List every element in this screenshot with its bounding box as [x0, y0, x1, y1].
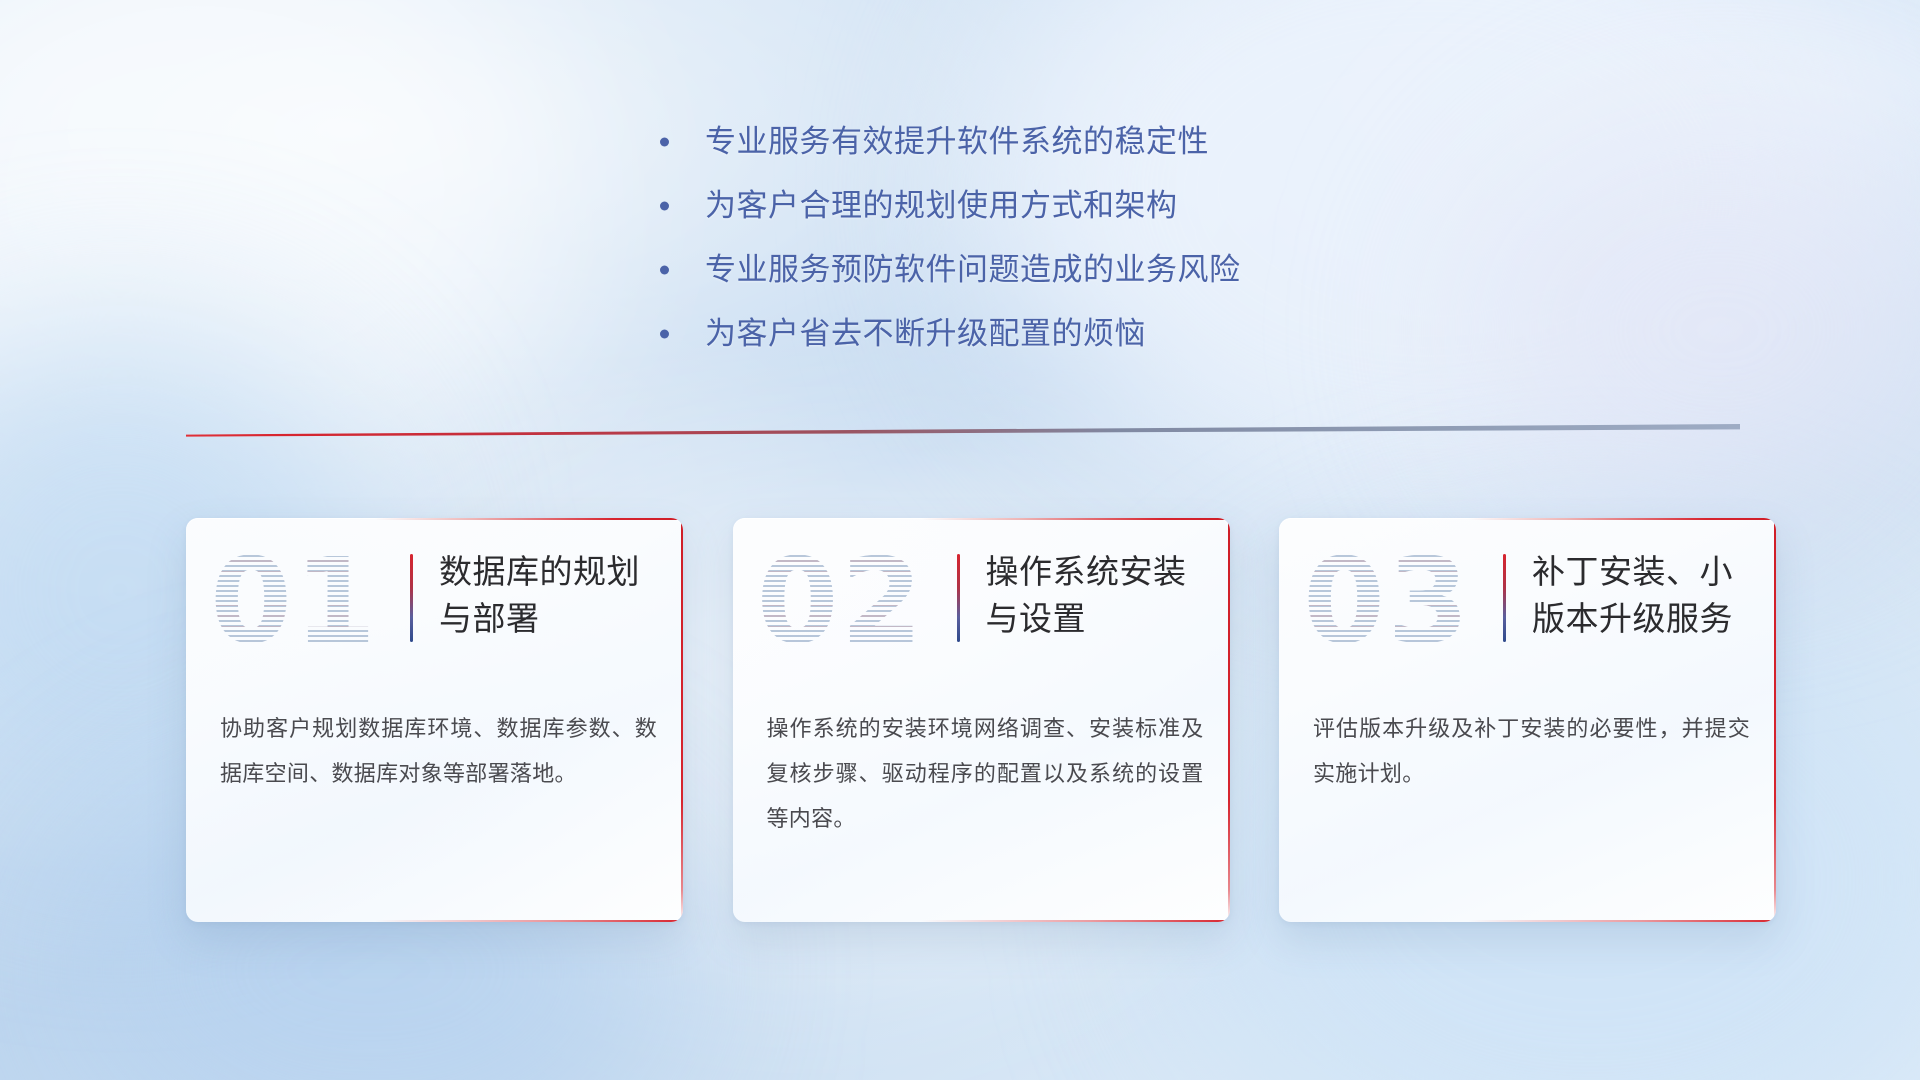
card-title: 补丁安装、小版本升级服务: [1532, 548, 1754, 642]
card-number-watermark: 03: [1303, 540, 1463, 664]
service-card-03[interactable]: 03 补丁安装、小版本升级服务 评估版本升级及补丁安装的必要性，并提交实施计划。: [1279, 518, 1776, 922]
title-accent-bar: [410, 554, 413, 642]
bullet-dot-icon: [660, 138, 669, 147]
list-item: 为客户合理的规划使用方式和架构: [660, 174, 1460, 238]
card-header: 01 数据库的规划与部署: [186, 518, 683, 684]
card-number-watermark: 02: [757, 540, 917, 664]
bullet-dot-icon: [660, 330, 669, 339]
benefits-bullet-list: 专业服务有效提升软件系统的稳定性 为客户合理的规划使用方式和架构 专业服务预防软…: [660, 110, 1460, 366]
title-accent-bar: [957, 554, 960, 642]
section-divider: [186, 424, 1740, 440]
bullet-dot-icon: [660, 202, 669, 211]
card-header: 03 补丁安装、小版本升级服务: [1279, 518, 1776, 684]
service-cards-row: 01 数据库的规划与部署 协助客户规划数据库环境、数据库参数、数据库空间、数据库…: [186, 518, 1776, 922]
bullet-text: 为客户省去不断升级配置的烦恼: [705, 316, 1146, 351]
card-description: 操作系统的安装环境网络调查、安装标准及复核步骤、驱动程序的配置以及系统的设置等内…: [767, 706, 1204, 841]
list-item: 专业服务预防软件问题造成的业务风险: [660, 238, 1460, 302]
card-title: 操作系统安装与设置: [986, 548, 1208, 642]
list-item: 专业服务有效提升软件系统的稳定性: [660, 110, 1460, 174]
slide-canvas: 专业服务有效提升软件系统的稳定性 为客户合理的规划使用方式和架构 专业服务预防软…: [0, 0, 1920, 1080]
card-accent-bottom: [921, 920, 1229, 922]
card-title-group: 补丁安装、小版本升级服务: [1503, 548, 1754, 642]
card-number-watermark: 01: [210, 540, 370, 664]
background-glow-top-left: [0, 0, 580, 500]
card-title-group: 操作系统安装与设置: [957, 548, 1208, 642]
service-card-01[interactable]: 01 数据库的规划与部署 协助客户规划数据库环境、数据库参数、数据库空间、数据库…: [186, 518, 683, 922]
service-card-02[interactable]: 02 操作系统安装与设置 操作系统的安装环境网络调查、安装标准及复核步骤、驱动程…: [733, 518, 1230, 922]
background-glow-right: [1460, 120, 1920, 540]
bullet-text: 专业服务有效提升软件系统的稳定性: [705, 124, 1209, 159]
card-accent-bottom: [1468, 920, 1776, 922]
card-accent-bottom: [375, 920, 683, 922]
card-header: 02 操作系统安装与设置: [733, 518, 1230, 684]
title-accent-bar: [1503, 554, 1506, 642]
bullet-text: 专业服务预防软件问题造成的业务风险: [705, 252, 1241, 287]
bullet-dot-icon: [660, 266, 669, 275]
card-title-group: 数据库的规划与部署: [410, 548, 661, 642]
list-item: 为客户省去不断升级配置的烦恼: [660, 302, 1460, 366]
card-description: 协助客户规划数据库环境、数据库参数、数据库空间、数据库对象等部署落地。: [220, 706, 657, 796]
card-description: 评估版本升级及补丁安装的必要性，并提交实施计划。: [1313, 706, 1750, 796]
bullet-text: 为客户合理的规划使用方式和架构: [705, 188, 1178, 223]
card-title: 数据库的规划与部署: [439, 548, 661, 642]
